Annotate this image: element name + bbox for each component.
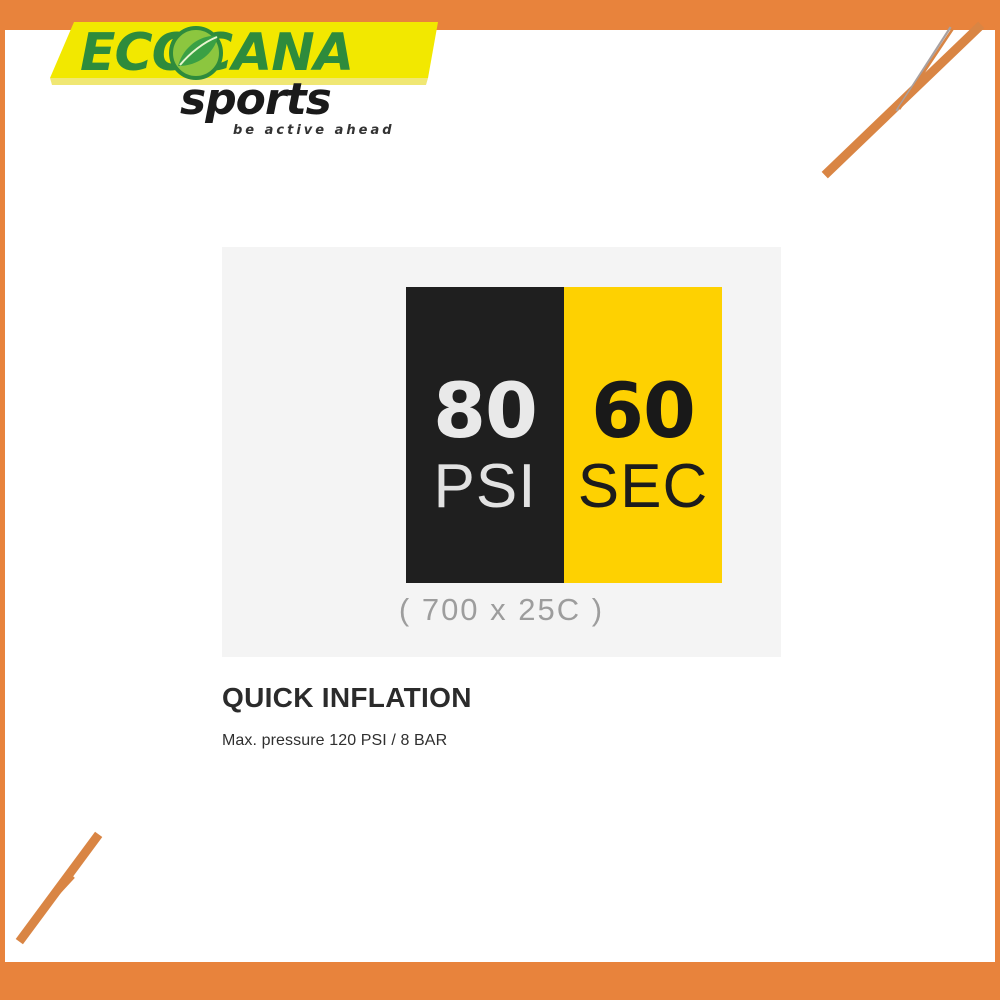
spec-panel-psi: 80 PSI <box>406 287 564 583</box>
sec-unit: SEC <box>578 456 708 518</box>
page-title: QUICK INFLATION <box>222 682 472 714</box>
brand-logo[interactable]: ECOCANA sports be active ahead <box>28 8 438 143</box>
product-infographic-page: ECOCANA sports be active ahead 80 PSI 60 <box>0 0 1000 1000</box>
logo-tagline: be active ahead <box>233 123 395 138</box>
sec-value: 60 <box>591 380 695 442</box>
spec-panels: 80 PSI 60 SEC <box>406 287 722 583</box>
bottom-left-stripes <box>22 838 96 938</box>
frame-left-edge <box>0 30 5 962</box>
tire-size-caption: ( 700 x 25C ) <box>222 592 781 628</box>
psi-unit: PSI <box>434 456 537 518</box>
psi-value: 80 <box>433 380 537 442</box>
spec-panel-sec: 60 SEC <box>564 287 722 583</box>
tennis-ball-leaf-icon <box>171 28 221 78</box>
feature-card: 80 PSI 60 SEC ( 700 x 25C ) <box>222 247 781 657</box>
page-subtitle: Max. pressure 120 PSI / 8 BAR <box>222 732 447 750</box>
logo-brand-secondary: sports <box>180 74 331 125</box>
frame-bottom-bar <box>0 962 1000 1000</box>
top-right-stripes <box>828 28 978 172</box>
frame-right-edge <box>995 30 1000 962</box>
